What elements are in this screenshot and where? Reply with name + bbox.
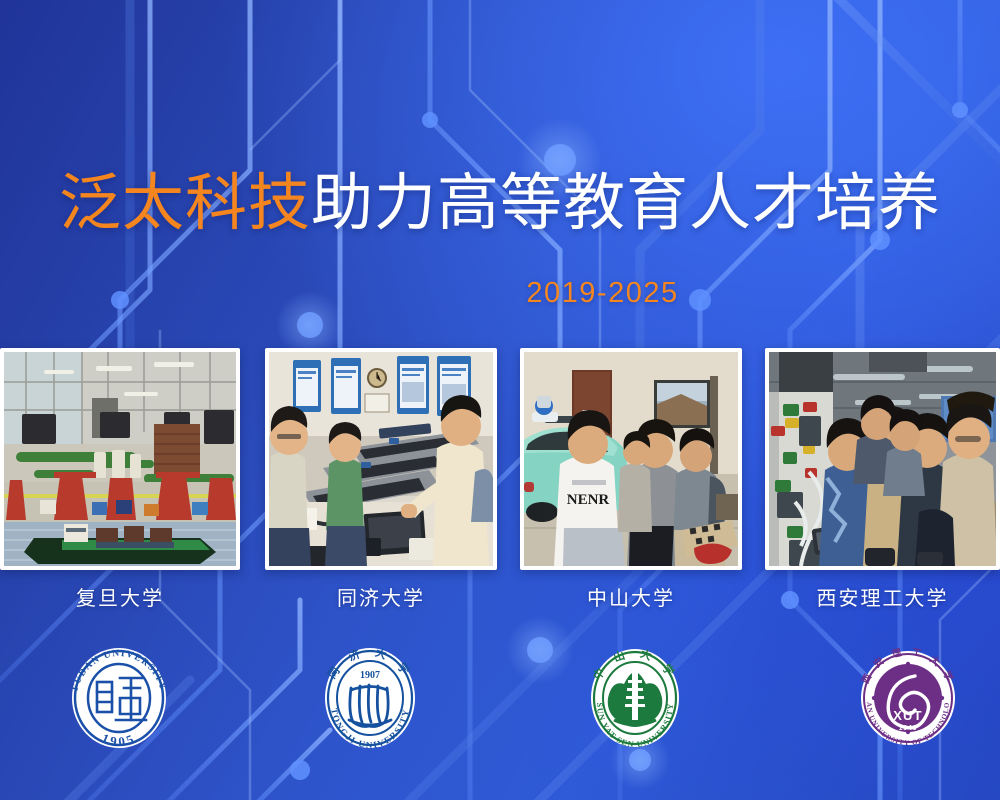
- caption-university-2: 同济大学: [265, 582, 497, 611]
- fudan-university-logo: FUDAN UNIVERSITY 1905: [54, 628, 184, 764]
- caption-university-4: 西安理工大学: [765, 582, 1000, 611]
- tongji-university-logo: 同 济 大 学 TONGJI UNIVERSITY 1907: [305, 628, 435, 764]
- photo-xut-workshop: [769, 352, 996, 566]
- xian-university-of-technology-logo: 西 安 理 工 大 学 XI'AN UNIVERSITY OF TECHNOLO…: [843, 628, 973, 764]
- photo-frame: [265, 348, 497, 570]
- caption-university-3: 中山大学: [520, 582, 742, 611]
- svg-text:1907: 1907: [360, 670, 380, 681]
- photo-fudan-lab: [4, 352, 236, 566]
- caption-row: 复旦大学 同济大学 中山大学 西安理工大学: [0, 582, 1000, 616]
- photo-frame: [765, 348, 1000, 570]
- caption-university-1: 复旦大学: [0, 582, 240, 611]
- gallery-card-3[interactable]: NENR: [520, 348, 742, 570]
- svg-text:1949: 1949: [899, 725, 918, 732]
- gallery-card-2[interactable]: [265, 348, 497, 570]
- photo-frame: [0, 348, 240, 570]
- poster-title: 泛太科技助力高等教育人才培养: [0, 172, 1000, 235]
- logo-row: FUDAN UNIVERSITY 1905: [0, 628, 1000, 768]
- photo-sysu-av-lab: NENR: [524, 352, 738, 566]
- sun-yat-sen-university-logo: 中 山 大 学 SUN YAT-SEN UNIVERSITY: [570, 628, 700, 764]
- gallery-card-4[interactable]: [765, 348, 1000, 570]
- photo-gallery: NENR: [0, 348, 1000, 570]
- photo-frame: NENR: [520, 348, 742, 570]
- brand-name: 泛太科技: [59, 169, 311, 238]
- svg-text:NENR: NENR: [567, 492, 610, 508]
- photo-tongji-lab: [269, 352, 493, 566]
- gallery-card-1[interactable]: [0, 348, 240, 570]
- svg-text:XUT: XUT: [893, 708, 923, 723]
- year-range: 2019-2025: [0, 277, 1000, 310]
- title-tagline: 助力高等教育人才培养: [311, 169, 941, 238]
- poster-canvas: 泛太科技助力高等教育人才培养 2019-2025: [0, 0, 1000, 800]
